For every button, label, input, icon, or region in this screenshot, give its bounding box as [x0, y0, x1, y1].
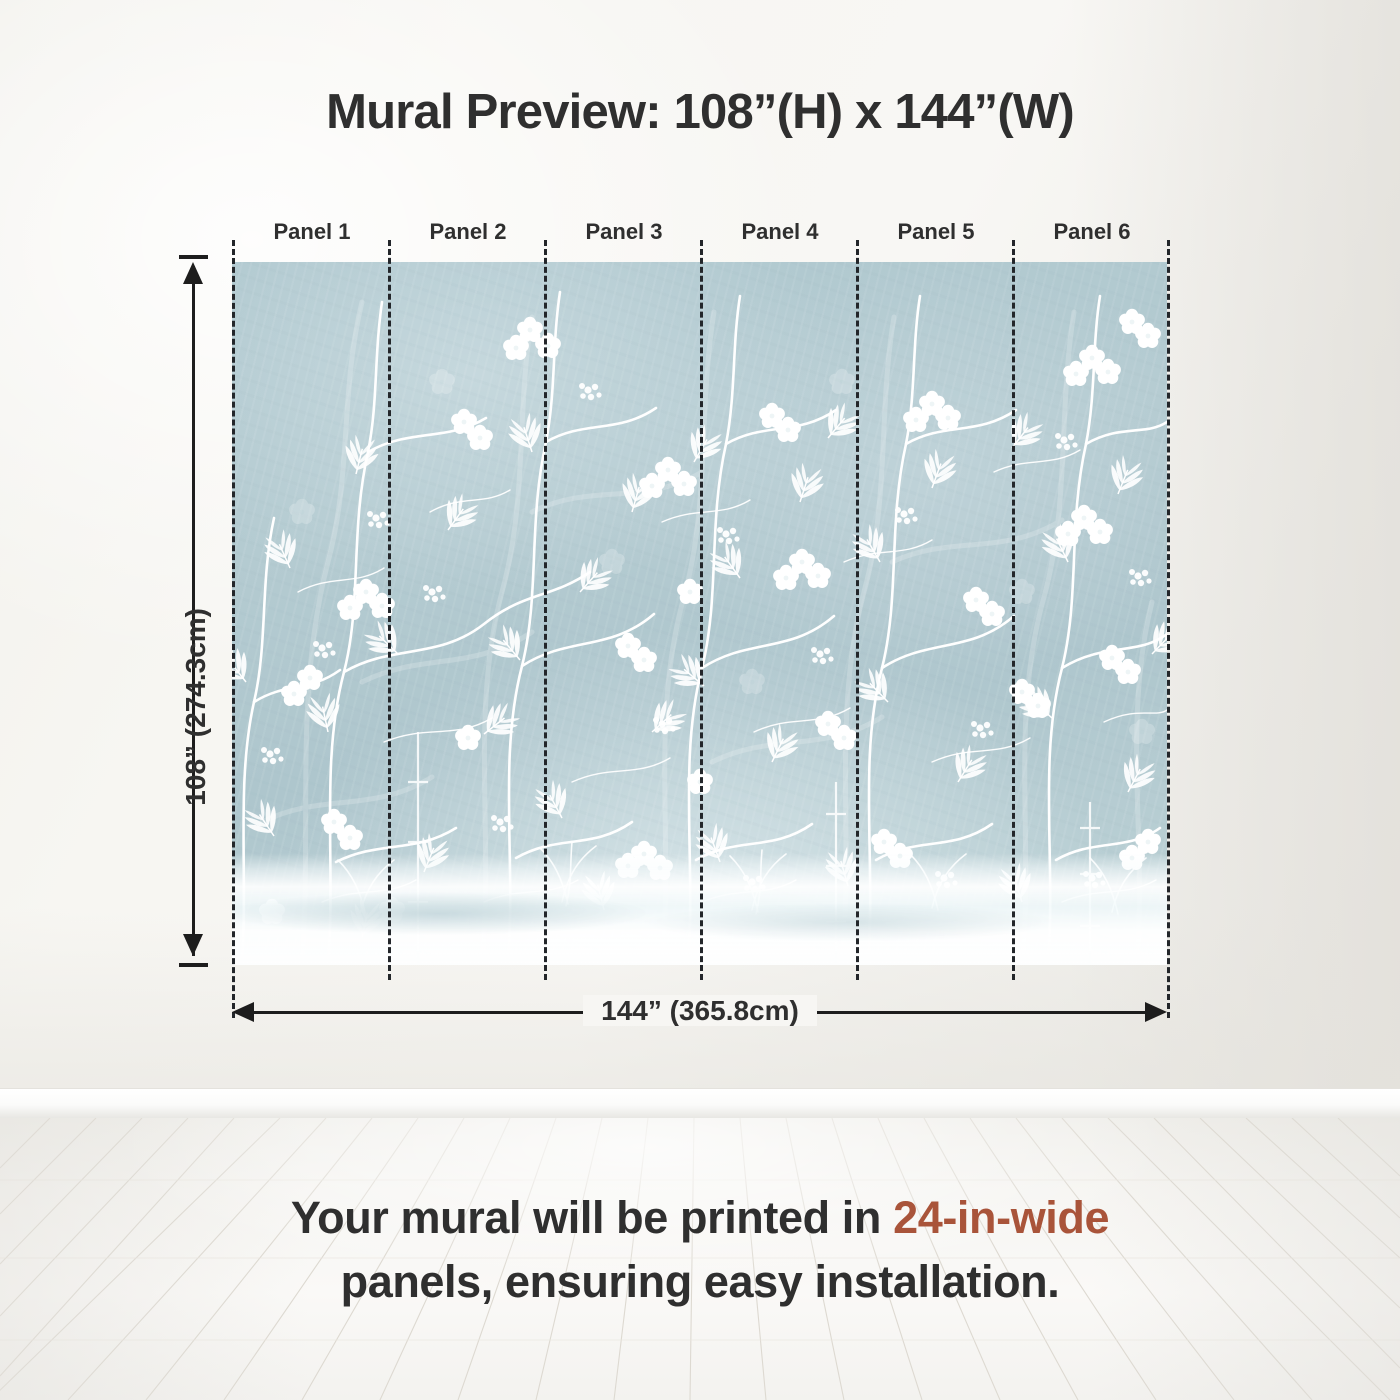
- mural-edge-left: [232, 240, 235, 1018]
- panel-divider-1-2: [388, 240, 391, 980]
- height-dimension-label: 108” (274.3cm): [180, 608, 212, 806]
- height-arrow-down: [183, 934, 203, 956]
- panel-divider-4-5: [856, 240, 859, 980]
- height-tick-bottom: [179, 963, 208, 967]
- panel-label-6: Panel 6: [1014, 219, 1170, 245]
- caption-line-2: panels, ensuring easy installation.: [0, 1250, 1400, 1314]
- panel-divider-5-6: [1012, 240, 1015, 980]
- width-dimension-text: 144” (365.8cm): [583, 995, 817, 1026]
- mural-preview-scene: Mural Preview: 108”(H) x 144”(W) Panel 1…: [0, 0, 1400, 1400]
- mural-edge-right: [1167, 240, 1170, 1018]
- panel-divider-2-3: [544, 240, 547, 980]
- page-title: Mural Preview: 108”(H) x 144”(W): [0, 84, 1400, 140]
- panel-label-1: Panel 1: [234, 219, 390, 245]
- panel-label-4: Panel 4: [702, 219, 858, 245]
- baseboard: [0, 1088, 1400, 1118]
- width-dimension-label: 144” (365.8cm): [0, 995, 1400, 1027]
- caption-panel-width-accent: 24-in-wide: [893, 1192, 1109, 1243]
- height-tick-top: [179, 255, 208, 259]
- panel-label-5: Panel 5: [858, 219, 1014, 245]
- panel-label-3: Panel 3: [546, 219, 702, 245]
- caption: Your mural will be printed in 24-in-wide…: [0, 1186, 1400, 1314]
- panel-label-2: Panel 2: [390, 219, 546, 245]
- panel-divider-3-4: [700, 240, 703, 980]
- caption-line-1: Your mural will be printed in 24-in-wide: [0, 1186, 1400, 1250]
- caption-line-1-prefix: Your mural will be printed in: [291, 1192, 893, 1243]
